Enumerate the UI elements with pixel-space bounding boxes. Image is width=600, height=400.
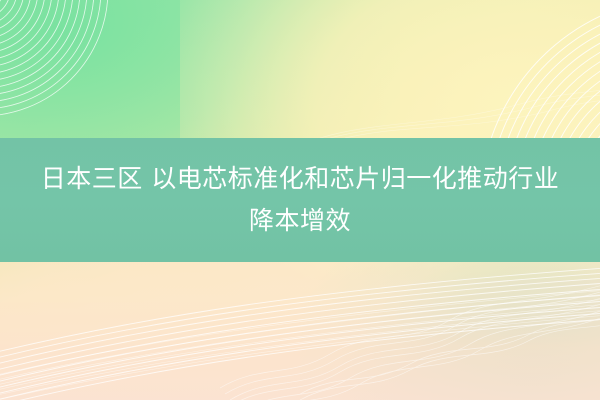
title-band: 日本三区 以电芯标准化和芯片归一化推动行业 降本增效 bbox=[0, 138, 600, 262]
title-line-1: 日本三区 以电芯标准化和芯片归一化推动行业 bbox=[41, 159, 559, 199]
banner-canvas: 日本三区 以电芯标准化和芯片归一化推动行业 降本增效 bbox=[0, 0, 600, 400]
title-line-2: 降本增效 bbox=[249, 201, 351, 241]
